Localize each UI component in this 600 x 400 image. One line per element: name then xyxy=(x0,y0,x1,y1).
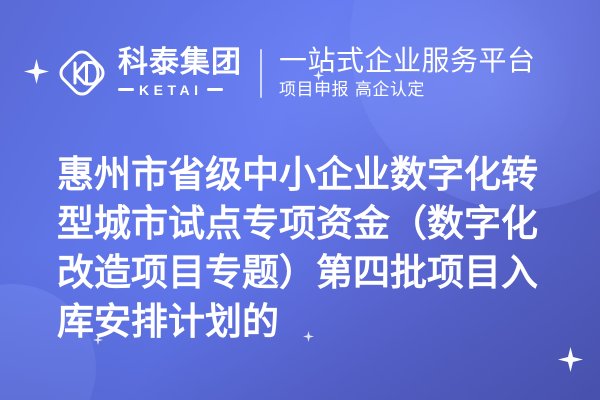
brand-wordmark: 科泰集团 KETAI xyxy=(118,48,242,98)
ketai-diamond-kd-logo-icon xyxy=(55,46,109,100)
banner-header: 科泰集团 KETAI 一站式企业服务平台 项目申报 高企认定 xyxy=(0,36,600,110)
brand-rule-right-icon xyxy=(207,88,223,91)
brand-lockup: 科泰集团 KETAI xyxy=(55,46,242,100)
brand-rule-left-icon xyxy=(118,88,134,91)
tagline-sub: 项目申报 高企认定 xyxy=(279,80,536,100)
promo-banner: 科泰集团 KETAI 一站式企业服务平台 项目申报 高企认定 惠州市省级中小企业… xyxy=(0,0,600,400)
tagline-block: 一站式企业服务平台 项目申报 高企认定 xyxy=(279,45,536,101)
tagline-main: 一站式企业服务平台 xyxy=(279,45,536,76)
header-divider xyxy=(260,49,262,98)
brand-name-en: KETAI xyxy=(139,82,202,98)
banner-title-block: 惠州市省级中小企业数字化转型城市试点专项资金（数字化改造项目专题）第四批项目入库… xyxy=(57,150,557,346)
brand-name-en-row: KETAI xyxy=(118,82,242,98)
sparkle-bottom-right-icon xyxy=(558,347,583,372)
brand-name-cn: 科泰集团 xyxy=(118,48,242,79)
page-title: 惠州市省级中小企业数字化转型城市试点专项资金（数字化改造项目专题）第四批项目入库… xyxy=(57,150,557,346)
